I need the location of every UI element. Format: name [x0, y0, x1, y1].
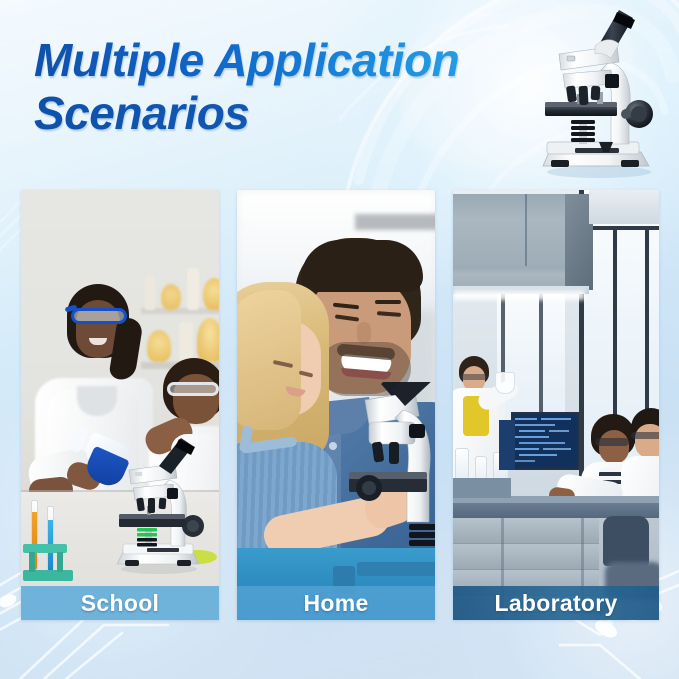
title-line-1: Multiple Application: [34, 34, 574, 87]
microscope-in-school-scene: [107, 436, 213, 576]
title-line-2: Scenarios: [34, 87, 574, 140]
scenario-panel-row: School: [21, 190, 659, 620]
caption-laboratory: Laboratory: [453, 586, 659, 620]
poster-canvas: Multiple Application Scenarios: [0, 0, 679, 679]
home-scene-image: Home: [237, 190, 435, 620]
poster-title: Multiple Application Scenarios: [34, 34, 574, 140]
scenario-panel-school[interactable]: School: [21, 190, 219, 620]
school-scene-image: School: [21, 190, 219, 620]
caption-home: Home: [237, 586, 435, 620]
scenario-panel-laboratory[interactable]: Laboratory: [453, 190, 659, 620]
scenario-panel-home[interactable]: Home: [237, 190, 435, 620]
caption-school: School: [21, 586, 219, 620]
laboratory-scene-image: Laboratory: [453, 190, 659, 620]
